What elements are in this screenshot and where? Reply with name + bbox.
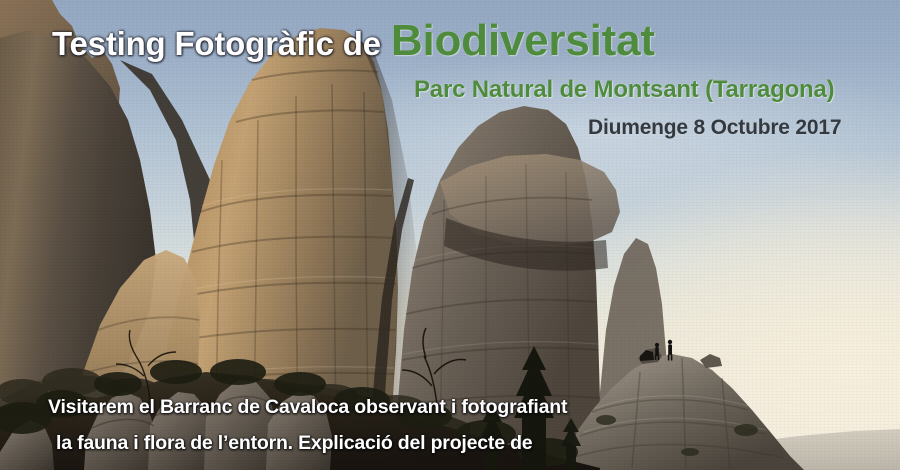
poster-image: Testing Fotogràfic deBiodiversitat Parc … bbox=[0, 0, 900, 470]
poster-body-line-1: Visitarem el Barranc de Cavaloca observa… bbox=[48, 396, 567, 419]
poster-body-line-2: la fauna i flora de l’entorn. Explicació… bbox=[56, 432, 532, 455]
poster-subtitle: Parc Natural de Montsant (Tarragona) bbox=[414, 76, 834, 104]
poster-title: Testing Fotogràfic deBiodiversitat bbox=[52, 16, 655, 66]
title-white-part: Testing Fotogràfic de bbox=[52, 25, 381, 62]
title-green-part: Biodiversitat bbox=[391, 16, 655, 65]
poster-date: Diumenge 8 Octubre 2017 bbox=[588, 116, 841, 140]
